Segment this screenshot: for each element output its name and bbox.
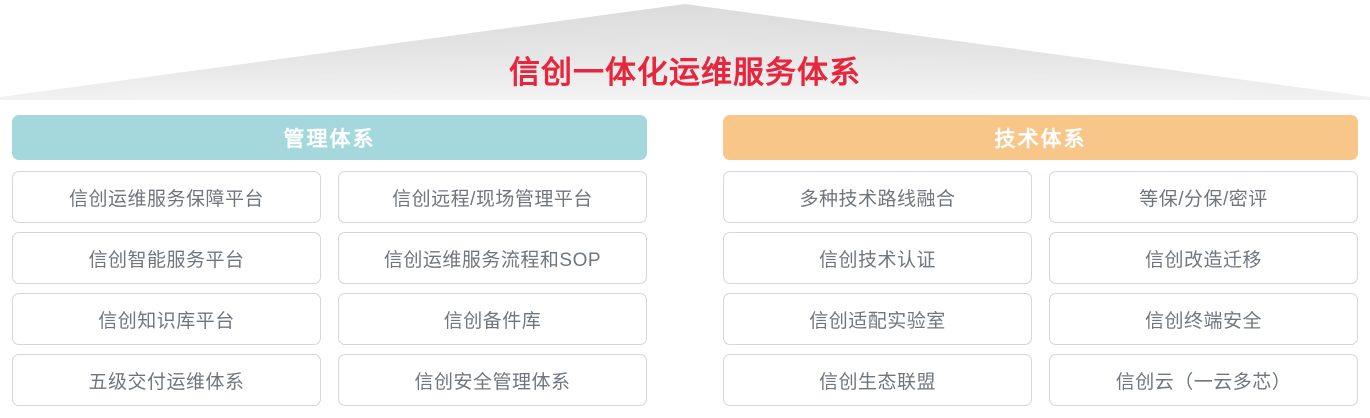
panel-technology: 技术体系 多种技术路线融合 等保/分保/密评 信创技术认证 信创改造迁移 信创适… (723, 115, 1358, 418)
panel-header-technology: 技术体系 (723, 115, 1358, 160)
cell-mgmt-1-2[interactable]: 信创智能服务平台 (12, 232, 321, 284)
panel-grid-technology: 多种技术路线融合 等保/分保/密评 信创技术认证 信创改造迁移 信创适配实验室 … (723, 171, 1358, 406)
page-title: 信创一体化运维服务体系 (0, 54, 1370, 92)
cell-tech-2-4[interactable]: 信创云（一云多芯） (1049, 354, 1358, 406)
cell-tech-2-1[interactable]: 等保/分保/密评 (1049, 171, 1358, 223)
roof-banner: 信创一体化运维服务体系 (0, 0, 1370, 100)
cell-mgmt-1-4[interactable]: 五级交付运维体系 (12, 354, 321, 406)
cell-mgmt-1-1[interactable]: 信创运维服务保障平台 (12, 171, 321, 223)
cell-mgmt-2-4[interactable]: 信创安全管理体系 (338, 354, 647, 406)
cell-tech-2-3[interactable]: 信创终端安全 (1049, 293, 1358, 345)
cell-mgmt-2-3[interactable]: 信创备件库 (338, 293, 647, 345)
panels-container: 管理体系 信创运维服务保障平台 信创远程/现场管理平台 信创智能服务平台 信创运… (0, 115, 1370, 418)
panel-grid-management: 信创运维服务保障平台 信创远程/现场管理平台 信创智能服务平台 信创运维服务流程… (12, 171, 647, 406)
cell-mgmt-2-2[interactable]: 信创运维服务流程和SOP (338, 232, 647, 284)
panel-management: 管理体系 信创运维服务保障平台 信创远程/现场管理平台 信创智能服务平台 信创运… (12, 115, 647, 418)
cell-mgmt-2-1[interactable]: 信创远程/现场管理平台 (338, 171, 647, 223)
diagram-root: 信创一体化运维服务体系 管理体系 信创运维服务保障平台 信创远程/现场管理平台 … (0, 0, 1370, 418)
cell-tech-1-1[interactable]: 多种技术路线融合 (723, 171, 1032, 223)
cell-mgmt-1-3[interactable]: 信创知识库平台 (12, 293, 321, 345)
cell-tech-1-4[interactable]: 信创生态联盟 (723, 354, 1032, 406)
cell-tech-2-2[interactable]: 信创改造迁移 (1049, 232, 1358, 284)
cell-tech-1-3[interactable]: 信创适配实验室 (723, 293, 1032, 345)
panel-header-management: 管理体系 (12, 115, 647, 160)
cell-tech-1-2[interactable]: 信创技术认证 (723, 232, 1032, 284)
